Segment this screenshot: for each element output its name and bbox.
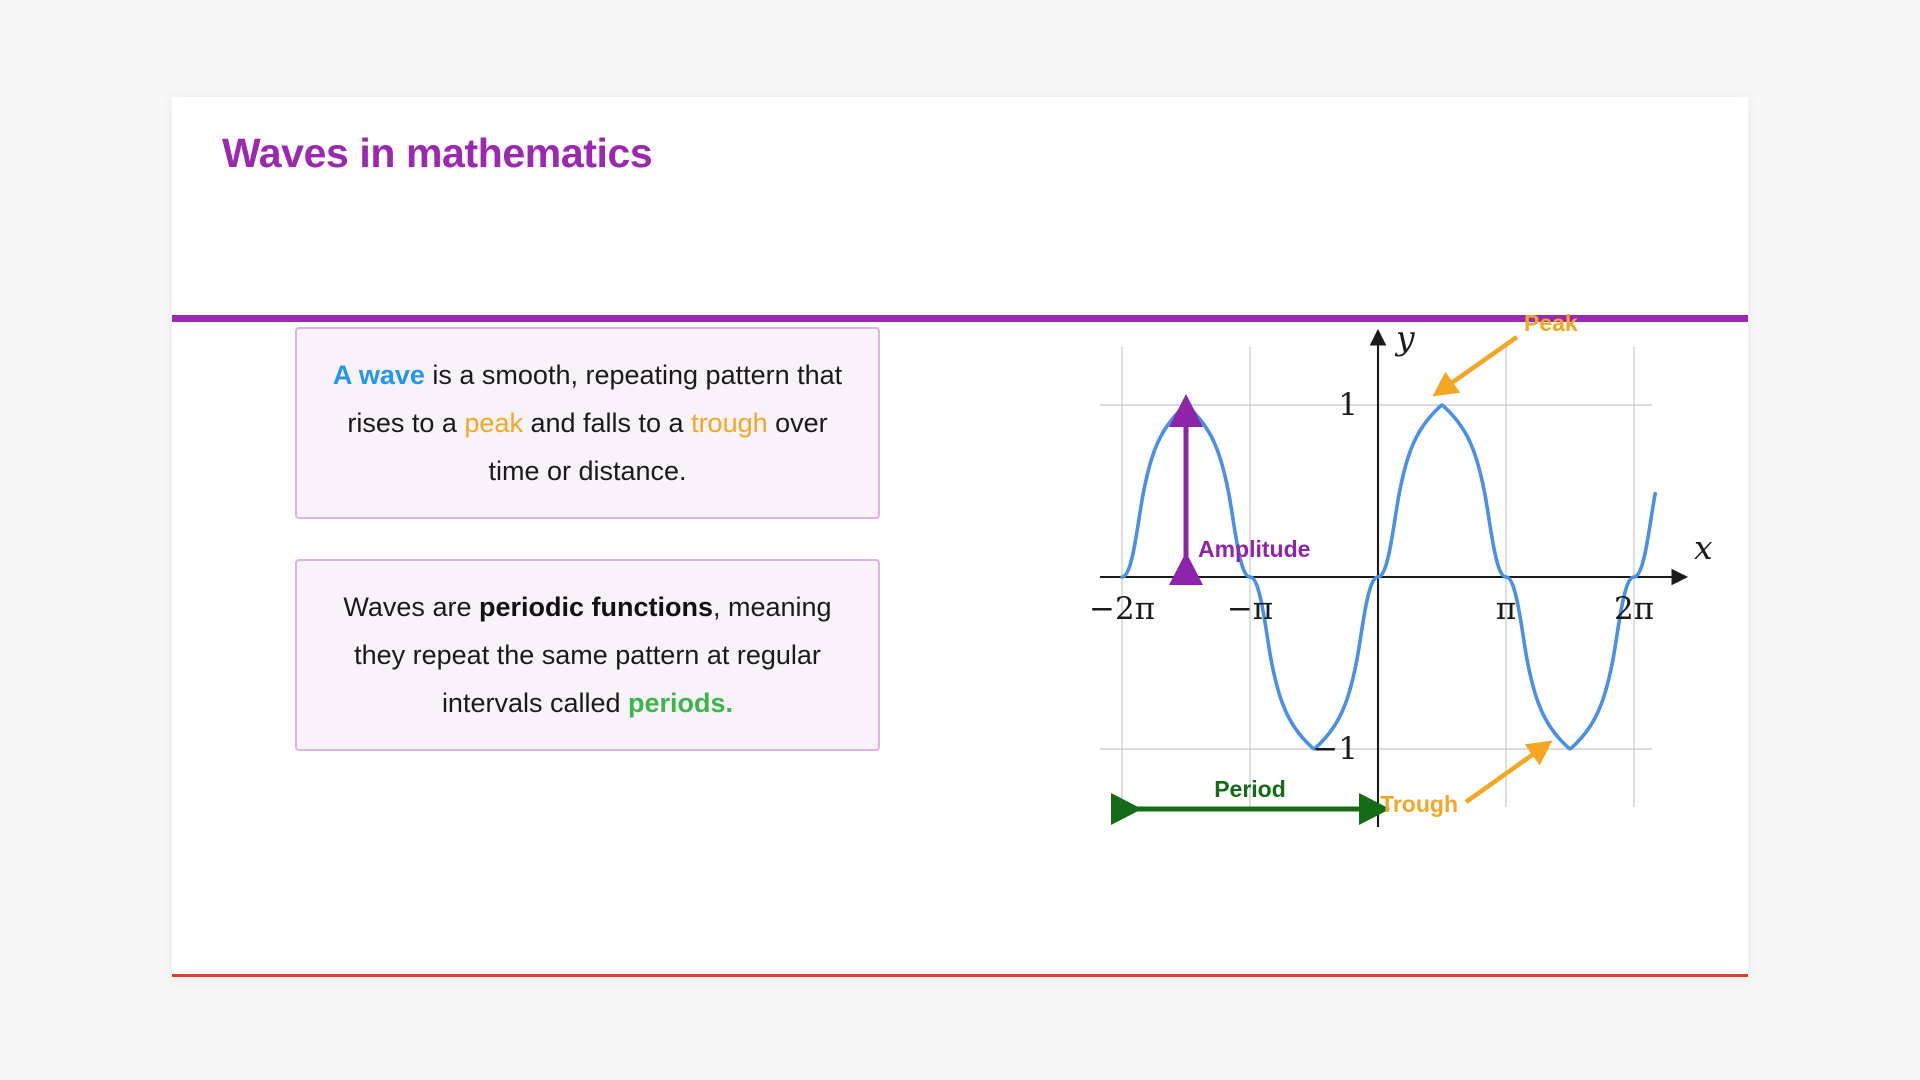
period-label: Period	[1214, 776, 1286, 802]
y-tick-label: −1	[1312, 731, 1358, 767]
definition-peak-term: peak	[464, 408, 523, 438]
periodic-text-1: Waves are	[343, 592, 479, 622]
info-card-periodic: Waves are periodic functions, meaning th…	[295, 559, 880, 751]
periodic-functions-term: periodic functions	[479, 592, 713, 622]
x-tick-label: 2π	[1614, 591, 1654, 627]
peak-label: Peak	[1524, 310, 1578, 336]
y-tick-label: 1	[1338, 387, 1358, 423]
peak-annotation: Peak	[1443, 310, 1578, 389]
definition-text-2: and falls to a	[523, 408, 691, 438]
footer-divider	[172, 974, 1748, 977]
slide-card: Waves in mathematics A wave is a smooth,…	[172, 97, 1748, 977]
wave-chart: −2π −π π 2π 1 −1 x y Amplitude Period	[1092, 307, 1732, 927]
x-tick-labels: −2π −π π 2π	[1092, 591, 1654, 627]
trough-label: Trough	[1380, 791, 1458, 817]
x-axis-label: x	[1694, 528, 1713, 567]
periodic-periods-term: periods.	[628, 688, 733, 718]
x-tick-label: π	[1496, 591, 1516, 627]
y-axis-label: y	[1394, 318, 1415, 357]
x-tick-label: −π	[1227, 591, 1273, 627]
amplitude-annotation: Amplitude	[1186, 411, 1310, 569]
definition-wave-term: A wave	[333, 360, 425, 390]
info-card-definition: A wave is a smooth, repeating pattern th…	[295, 327, 880, 519]
definition-trough-term: trough	[691, 408, 768, 438]
slide-header: Waves in mathematics	[172, 97, 1748, 225]
text-column: A wave is a smooth, repeating pattern th…	[295, 327, 880, 751]
x-tick-label: −2π	[1092, 591, 1155, 627]
amplitude-label: Amplitude	[1198, 536, 1310, 562]
trough-annotation: Trough	[1380, 748, 1542, 817]
page-title: Waves in mathematics	[222, 130, 652, 177]
